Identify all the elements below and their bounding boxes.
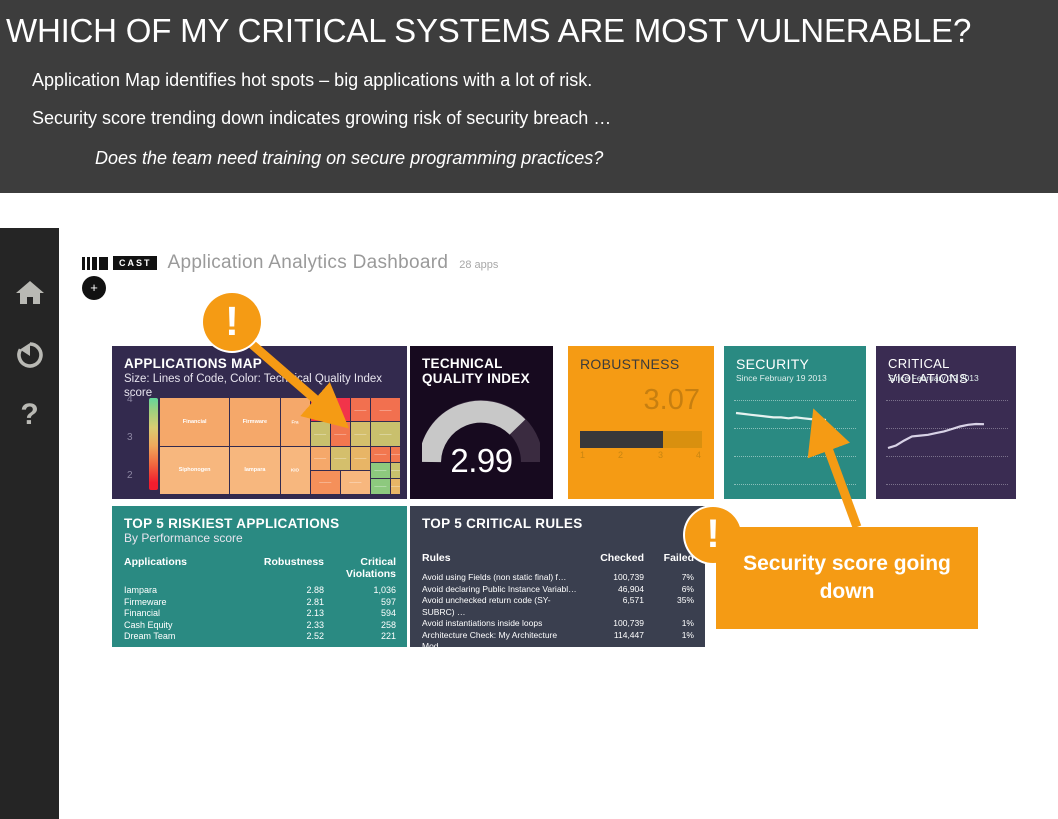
scale-label-3: 3 xyxy=(127,432,133,443)
cell-robustness: 2.88 xyxy=(242,585,342,597)
cell-violations: 221 xyxy=(342,631,396,643)
treemap-cell[interactable]: ——— xyxy=(371,463,390,478)
treemap-cell-label: ——— xyxy=(371,407,400,412)
treemap-cell[interactable]: ——— xyxy=(371,422,400,445)
table-row[interactable]: Iampara2.881,036 xyxy=(124,585,396,597)
cell-application: Dream Team xyxy=(124,631,242,643)
tile-title: ROBUSTNESS xyxy=(580,356,679,372)
cell-violations: 258 xyxy=(342,620,396,632)
table-header-row: Applications Robustness Critical Violati… xyxy=(124,556,396,585)
cell-violations: 594 xyxy=(342,608,396,620)
alert-marker-appmap: ! xyxy=(203,293,261,351)
treemap-cell[interactable]: ——— xyxy=(391,447,400,462)
col-robustness: Robustness xyxy=(242,556,342,580)
treemap-cell-label: Iampara xyxy=(230,467,279,473)
treemap-cell[interactable]: ——— xyxy=(371,447,390,462)
treemap-cell-label: Firmware xyxy=(230,419,279,425)
treemap-cell[interactable]: ——— xyxy=(331,422,350,445)
treemap-cell[interactable]: ——— xyxy=(311,471,340,494)
banner-bullet-2: Security score trending down indicates g… xyxy=(32,108,611,129)
treemap-cell-label: ——— xyxy=(371,468,390,473)
treemap-cell[interactable]: ——— xyxy=(311,447,330,470)
color-gradient-bar xyxy=(149,398,158,490)
tick-3: 3 xyxy=(658,450,663,460)
table-row[interactable]: Firmeware2.81597 xyxy=(124,597,396,609)
tqi-value: 2.99 xyxy=(410,442,553,480)
treemap-cell-label: ——— xyxy=(331,456,350,461)
treemap-cell[interactable]: ——— xyxy=(391,463,400,478)
tile-title: APPLICATIONS MAP xyxy=(124,356,262,371)
treemap-cell[interactable]: ——— xyxy=(331,447,350,470)
tile-title: TOP 5 CRITICAL RULES xyxy=(422,516,583,531)
table-row[interactable]: Dream Team2.52221 xyxy=(124,631,396,643)
tile-subtitle: Since February 19 2013 xyxy=(888,373,979,383)
tile-critical-violations[interactable]: CRITICAL VIOLATIONS Since February 19 20… xyxy=(876,346,1016,499)
treemap-cell-label: ——— xyxy=(371,431,400,436)
cell-robustness: 2.33 xyxy=(242,620,342,632)
security-line-chart xyxy=(734,386,856,488)
table-row[interactable]: Architecture Check: My Architecture Mod…… xyxy=(422,630,694,648)
treemap-cell-label: ——— xyxy=(391,484,400,489)
tile-title: SECURITY xyxy=(736,356,809,372)
page-title: WHICH OF MY CRITICAL SYSTEMS ARE MOST VU… xyxy=(6,12,971,50)
tile-title: TECHNICAL QUALITY INDEX xyxy=(422,356,532,386)
treemap-cell-label: ——— xyxy=(311,456,330,461)
treemap-cell[interactable]: Financial xyxy=(160,398,229,446)
cell-rule: Avoid unchecked return code (SY-SUBRC) … xyxy=(422,595,582,618)
cell-checked: 100,739 xyxy=(582,572,648,584)
treemap-cell[interactable]: ——— xyxy=(351,398,370,421)
cell-rule: Architecture Check: My Architecture Mod… xyxy=(422,630,582,648)
callout-security-score: Security score going down xyxy=(716,527,978,629)
treemap-cell-label: Fra xyxy=(281,419,310,424)
treemap-cell-label: ——— xyxy=(311,431,330,436)
dashboard-header: CAST Application Analytics Dashboard 28 … xyxy=(82,252,498,274)
tile-subtitle: Since February 19 2013 xyxy=(736,373,827,383)
table-row[interactable]: Avoid unchecked return code (SY-SUBRC) …… xyxy=(422,595,694,618)
cell-application: Cash Equity xyxy=(124,620,242,632)
sidebar: ? xyxy=(0,228,59,819)
tile-security[interactable]: SECURITY Since February 19 2013 xyxy=(724,346,866,499)
col-violations: Critical Violations xyxy=(342,556,396,580)
table-row[interactable]: Avoid using Fields (non static final) f…… xyxy=(422,572,694,584)
table-row[interactable]: Avoid instantiations inside loops100,739… xyxy=(422,618,694,630)
tile-top-critical-rules[interactable]: TOP 5 CRITICAL RULES Rules Checked Faile… xyxy=(410,506,705,647)
treemap-cell-label: ——— xyxy=(341,480,370,485)
cell-failed: 1% xyxy=(648,618,694,630)
table-row[interactable]: Financial2.13594 xyxy=(124,608,396,620)
cell-rule: Avoid declaring Public Instance Variabl… xyxy=(422,584,582,596)
table-row[interactable]: Cash Equity2.33258 xyxy=(124,620,396,632)
treemap-cell-label: ——— xyxy=(391,468,400,473)
tile-applications-map[interactable]: APPLICATIONS MAP Size: Lines of Code, Co… xyxy=(112,346,407,499)
treemap-cell[interactable]: Fra xyxy=(281,398,310,446)
col-checked: Checked xyxy=(582,552,648,564)
rules-table: Rules Checked Failed Avoid using Fields … xyxy=(422,552,694,647)
tick-4: 4 xyxy=(696,450,701,460)
scale-label-2: 2 xyxy=(127,470,133,481)
dashboard-title: Application Analytics Dashboard xyxy=(168,252,449,274)
add-widget-button[interactable]: + xyxy=(82,276,106,300)
col-applications: Applications xyxy=(124,556,242,580)
cell-failed: 1% xyxy=(648,630,694,648)
cast-logo-icon: CAST xyxy=(82,257,157,270)
tile-robustness[interactable]: ROBUSTNESS 3.07 1 2 3 4 xyxy=(568,346,714,499)
tile-subtitle: By Performance score xyxy=(124,531,399,545)
treemap-cell-label: ——— xyxy=(371,484,390,489)
cell-checked: 114,447 xyxy=(582,630,648,648)
treemap-cell-label: KIO xyxy=(281,468,310,473)
tile-technical-quality-index[interactable]: TECHNICAL QUALITY INDEX 2.99 xyxy=(410,346,553,499)
question-mark-icon[interactable]: ? xyxy=(0,393,59,437)
treemap-cell-label: Iguan xyxy=(311,407,350,412)
cell-checked: 6,571 xyxy=(582,595,648,618)
treemap-cell[interactable]: ——— xyxy=(311,422,330,445)
table-row[interactable]: Avoid declaring Public Instance Variabl…… xyxy=(422,584,694,596)
treemap-cell-label: Financial xyxy=(160,419,229,425)
banner-bullet-1: Application Map identifies hot spots – b… xyxy=(32,70,592,91)
cell-rule: Avoid using Fields (non static final) f… xyxy=(422,572,582,584)
cell-failed: 7% xyxy=(648,572,694,584)
treemap-cell-label: ——— xyxy=(351,431,370,436)
cell-violations: 1,036 xyxy=(342,585,396,597)
cell-checked: 46,904 xyxy=(582,584,648,596)
cell-application: Iampara xyxy=(124,585,242,597)
robustness-value: 3.07 xyxy=(644,384,700,417)
treemap-cell[interactable]: ——— xyxy=(371,398,400,421)
cell-application: Financial xyxy=(124,608,242,620)
treemap-cell-label: ——— xyxy=(351,407,370,412)
col-rules: Rules xyxy=(422,552,582,564)
cell-robustness: 2.13 xyxy=(242,608,342,620)
cell-rule: Avoid instantiations inside loops xyxy=(422,618,582,630)
cell-failed: 35% xyxy=(648,595,694,618)
tile-top-riskiest-applications[interactable]: TOP 5 RISKIEST APPLICATIONS By Performan… xyxy=(112,506,407,647)
treemap-cell[interactable]: Firmware xyxy=(230,398,279,446)
banner-question: Does the team need training on secure pr… xyxy=(95,148,603,169)
treemap-cell-label: ——— xyxy=(311,480,340,485)
cell-application: Firmeware xyxy=(124,597,242,609)
robustness-axis-ticks: 1 2 3 4 xyxy=(580,450,702,462)
treemap-cell-label: ——— xyxy=(391,452,400,457)
robustness-bar xyxy=(580,431,702,448)
riskiest-table: Applications Robustness Critical Violati… xyxy=(124,556,396,643)
cell-checked: 100,739 xyxy=(582,618,648,630)
treemap-cell-label: ——— xyxy=(371,452,390,457)
app-count-label: 28 apps xyxy=(459,259,498,274)
robustness-bar-fill xyxy=(580,431,663,448)
treemap-cell-label: ——— xyxy=(331,431,350,436)
slide-banner: WHICH OF MY CRITICAL SYSTEMS ARE MOST VU… xyxy=(0,0,1058,193)
tick-2: 2 xyxy=(618,450,623,460)
chart-line xyxy=(736,413,826,420)
critical-violations-line-chart xyxy=(886,386,1008,488)
treemap-cell-label: ——— xyxy=(351,456,370,461)
cell-robustness: 2.81 xyxy=(242,597,342,609)
cell-failed: 6% xyxy=(648,584,694,596)
treemap-cell[interactable]: KIO xyxy=(281,447,310,495)
treemap-cell[interactable]: ——— xyxy=(391,479,400,494)
treemap-cell[interactable]: ——— xyxy=(351,422,370,445)
treemap-cell[interactable]: Siphonogen xyxy=(160,447,229,495)
treemap[interactable]: FinancialFirmwareFraIguan———————————————… xyxy=(160,398,400,494)
cast-logo-word: CAST xyxy=(113,256,157,270)
cell-violations: 597 xyxy=(342,597,396,609)
treemap-cell-label: Siphonogen xyxy=(160,467,229,473)
home-icon[interactable] xyxy=(0,270,59,314)
treemap-cell[interactable]: ——— xyxy=(371,479,390,494)
tile-title: TOP 5 RISKIEST APPLICATIONS xyxy=(124,516,339,531)
treemap-cell[interactable]: Iampara xyxy=(230,447,279,495)
cell-robustness: 2.52 xyxy=(242,631,342,643)
treemap-cell[interactable]: ——— xyxy=(351,447,370,470)
treemap-cell[interactable]: Iguan xyxy=(311,398,350,421)
scale-label-4: 4 xyxy=(127,394,133,405)
tick-1: 1 xyxy=(580,450,585,460)
treemap-cell[interactable]: ——— xyxy=(341,471,370,494)
back-arrow-icon[interactable] xyxy=(0,333,59,377)
col-failed: Failed xyxy=(648,552,694,564)
table-header-row: Rules Checked Failed xyxy=(422,552,694,572)
